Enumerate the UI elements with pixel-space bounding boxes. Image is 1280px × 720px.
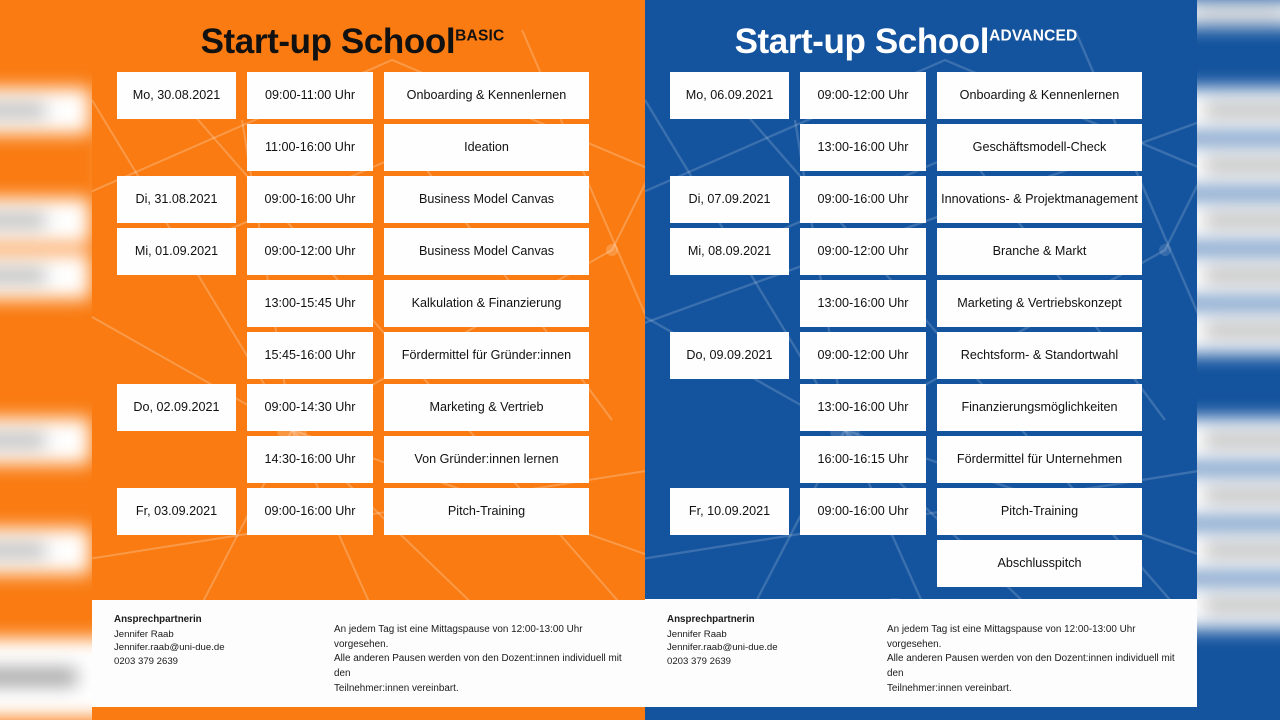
cell-topic: Fördermittel für Gründer:innen bbox=[384, 332, 589, 379]
cell-date-empty bbox=[670, 436, 789, 483]
note-line-1: An jedem Tag ist eine Mittagspause von 1… bbox=[887, 623, 1179, 653]
cell-topic: Fördermittel für Unternehmen bbox=[937, 436, 1142, 483]
panel-startup-school-basic: Start-up SchoolBASIC Mo, 30.08.2021 09:0… bbox=[92, 0, 645, 720]
cell-time: 09:00-12:00 Uhr bbox=[247, 228, 373, 275]
schedule-table-basic: Mo, 30.08.2021 09:00-11:00 Uhr Onboardin… bbox=[92, 72, 645, 535]
cell-topic: Business Model Canvas bbox=[384, 176, 589, 223]
table-row: Mi, 08.09.2021 09:00-12:00 Uhr Branche &… bbox=[670, 228, 1183, 275]
table-row: Di, 31.08.2021 09:00-16:00 Uhr Business … bbox=[117, 176, 631, 223]
title-superscript: BASIC bbox=[455, 27, 504, 44]
cell-time: 09:00-12:00 Uhr bbox=[800, 72, 926, 119]
cell-topic: Onboarding & Kennenlernen bbox=[384, 72, 589, 119]
cell-time: 13:00-16:00 Uhr bbox=[800, 280, 926, 327]
cell-time: 09:00-16:00 Uhr bbox=[800, 488, 926, 535]
cell-date-empty bbox=[117, 332, 236, 379]
cell-topic: Finanzierungsmöglichkeiten bbox=[937, 384, 1142, 431]
cell-topic: Kalkulation & Finanzierung bbox=[384, 280, 589, 327]
table-row: 11:00-16:00 Uhr Ideation bbox=[117, 124, 631, 171]
table-row: 14:30-16:00 Uhr Von Gründer:innen lernen bbox=[117, 436, 631, 483]
cell-date-empty bbox=[117, 280, 236, 327]
table-row: 16:00-16:15 Uhr Fördermittel für Unterne… bbox=[670, 436, 1183, 483]
cell-time: 09:00-14:30 Uhr bbox=[247, 384, 373, 431]
panel-title-advanced: Start-up SchoolADVANCED bbox=[645, 0, 1197, 62]
table-row: Di, 07.09.2021 09:00-16:00 Uhr Innovatio… bbox=[670, 176, 1183, 223]
title-text: Start-up School bbox=[201, 22, 456, 61]
table-row: Mo, 06.09.2021 09:00-12:00 Uhr Onboardin… bbox=[670, 72, 1183, 119]
schedule-table-advanced: Mo, 06.09.2021 09:00-12:00 Uhr Onboardin… bbox=[645, 72, 1197, 587]
table-row: 13:00-16:00 Uhr Geschäftsmodell-Check bbox=[670, 124, 1183, 171]
cell-date: Mo, 06.09.2021 bbox=[670, 72, 789, 119]
contact-phone: 0203 379 2639 bbox=[114, 655, 314, 669]
table-row: Abschlusspitch bbox=[670, 540, 1183, 587]
title-superscript: ADVANCED bbox=[989, 27, 1077, 44]
note-line-2: Alle anderen Pausen werden von den Dozen… bbox=[887, 652, 1179, 682]
table-row: Do, 09.09.2021 09:00-12:00 Uhr Rechtsfor… bbox=[670, 332, 1183, 379]
contact-block: Ansprechpartnerin Jennifer Raab Jennifer… bbox=[667, 613, 867, 697]
cell-time: 13:00-16:00 Uhr bbox=[800, 124, 926, 171]
cell-time: 15:45-16:00 Uhr bbox=[247, 332, 373, 379]
cell-date-empty bbox=[670, 540, 789, 587]
panel-title-basic: Start-up SchoolBASIC bbox=[92, 0, 645, 62]
cell-topic: Branche & Markt bbox=[937, 228, 1142, 275]
cell-topic: Abschlusspitch bbox=[937, 540, 1142, 587]
table-row: Mi, 01.09.2021 09:00-12:00 Uhr Business … bbox=[117, 228, 631, 275]
cell-topic: Pitch-Training bbox=[937, 488, 1142, 535]
cell-time: 09:00-12:00 Uhr bbox=[800, 228, 926, 275]
cell-time: 13:00-16:00 Uhr bbox=[800, 384, 926, 431]
note-line-3: Teilnehmer:innen vereinbart. bbox=[334, 682, 627, 697]
cell-date: Fr, 10.09.2021 bbox=[670, 488, 789, 535]
cell-time: 09:00-12:00 Uhr bbox=[800, 332, 926, 379]
note-line-2: Alle anderen Pausen werden von den Dozen… bbox=[334, 652, 627, 682]
cell-time: 09:00-16:00 Uhr bbox=[800, 176, 926, 223]
contact-name: Jennifer Raab bbox=[114, 628, 314, 642]
contact-name: Jennifer Raab bbox=[667, 628, 867, 642]
cell-date: Di, 07.09.2021 bbox=[670, 176, 789, 223]
cell-time: 11:00-16:00 Uhr bbox=[247, 124, 373, 171]
note-line-3: Teilnehmer:innen vereinbart. bbox=[887, 682, 1179, 697]
title-text: Start-up School bbox=[735, 22, 990, 61]
cell-topic: Pitch-Training bbox=[384, 488, 589, 535]
cell-date-empty bbox=[670, 124, 789, 171]
cell-topic: Onboarding & Kennenlernen bbox=[937, 72, 1142, 119]
cell-topic: Business Model Canvas bbox=[384, 228, 589, 275]
cell-date: Di, 31.08.2021 bbox=[117, 176, 236, 223]
cell-date: Mi, 08.09.2021 bbox=[670, 228, 789, 275]
footer-basic: Ansprechpartnerin Jennifer Raab Jennifer… bbox=[92, 600, 645, 720]
cell-date-empty bbox=[670, 384, 789, 431]
cell-time-empty bbox=[800, 540, 926, 587]
contact-role: Ansprechpartnerin bbox=[667, 613, 867, 627]
cell-date-empty bbox=[117, 124, 236, 171]
cell-time: 14:30-16:00 Uhr bbox=[247, 436, 373, 483]
contact-email[interactable]: Jennifer.raab@uni-due.de bbox=[114, 641, 314, 655]
table-row: 13:00-16:00 Uhr Marketing & Vertriebskon… bbox=[670, 280, 1183, 327]
table-row: Fr, 03.09.2021 09:00-16:00 Uhr Pitch-Tra… bbox=[117, 488, 631, 535]
contact-block: Ansprechpartnerin Jennifer Raab Jennifer… bbox=[114, 613, 314, 697]
cell-topic: Von Gründer:innen lernen bbox=[384, 436, 589, 483]
contact-email[interactable]: Jennifer.raab@uni-due.de bbox=[667, 641, 867, 655]
cell-topic: Rechtsform- & Standortwahl bbox=[937, 332, 1142, 379]
cell-date-empty bbox=[670, 280, 789, 327]
cell-topic: Innovations- & Projektmanagement bbox=[937, 176, 1142, 223]
cell-topic: Geschäftsmodell-Check bbox=[937, 124, 1142, 171]
slide-stage: Start-up SchoolBASIC Mo, 30.08.2021 09:0… bbox=[0, 0, 1280, 720]
cell-date: Do, 09.09.2021 bbox=[670, 332, 789, 379]
note-line-1: An jedem Tag ist eine Mittagspause von 1… bbox=[334, 623, 627, 653]
table-row: Mo, 30.08.2021 09:00-11:00 Uhr Onboardin… bbox=[117, 72, 631, 119]
cell-topic: Marketing & Vertrieb bbox=[384, 384, 589, 431]
contact-phone: 0203 379 2639 bbox=[667, 655, 867, 669]
footer-advanced: Ansprechpartnerin Jennifer Raab Jennifer… bbox=[645, 599, 1197, 720]
cell-date-empty bbox=[117, 436, 236, 483]
table-row: 13:00-15:45 Uhr Kalkulation & Finanzieru… bbox=[117, 280, 631, 327]
cell-time: 13:00-15:45 Uhr bbox=[247, 280, 373, 327]
contact-role: Ansprechpartnerin bbox=[114, 613, 314, 627]
panel-startup-school-advanced: Start-up SchoolADVANCED Mo, 06.09.2021 0… bbox=[645, 0, 1197, 720]
table-row: 15:45-16:00 Uhr Fördermittel für Gründer… bbox=[117, 332, 631, 379]
cell-time: 09:00-16:00 Uhr bbox=[247, 176, 373, 223]
cell-date: Fr, 03.09.2021 bbox=[117, 488, 236, 535]
cell-time: 09:00-16:00 Uhr bbox=[247, 488, 373, 535]
cell-time: 09:00-11:00 Uhr bbox=[247, 72, 373, 119]
break-note: An jedem Tag ist eine Mittagspause von 1… bbox=[887, 613, 1179, 697]
break-note: An jedem Tag ist eine Mittagspause von 1… bbox=[334, 613, 627, 697]
table-row: Do, 02.09.2021 09:00-14:30 Uhr Marketing… bbox=[117, 384, 631, 431]
cell-topic: Marketing & Vertriebskonzept bbox=[937, 280, 1142, 327]
cell-date: Mo, 30.08.2021 bbox=[117, 72, 236, 119]
cell-date: Mi, 01.09.2021 bbox=[117, 228, 236, 275]
cell-time: 16:00-16:15 Uhr bbox=[800, 436, 926, 483]
cell-topic: Ideation bbox=[384, 124, 589, 171]
table-row: 13:00-16:00 Uhr Finanzierungsmöglichkeit… bbox=[670, 384, 1183, 431]
cell-date: Do, 02.09.2021 bbox=[117, 384, 236, 431]
table-row: Fr, 10.09.2021 09:00-16:00 Uhr Pitch-Tra… bbox=[670, 488, 1183, 535]
